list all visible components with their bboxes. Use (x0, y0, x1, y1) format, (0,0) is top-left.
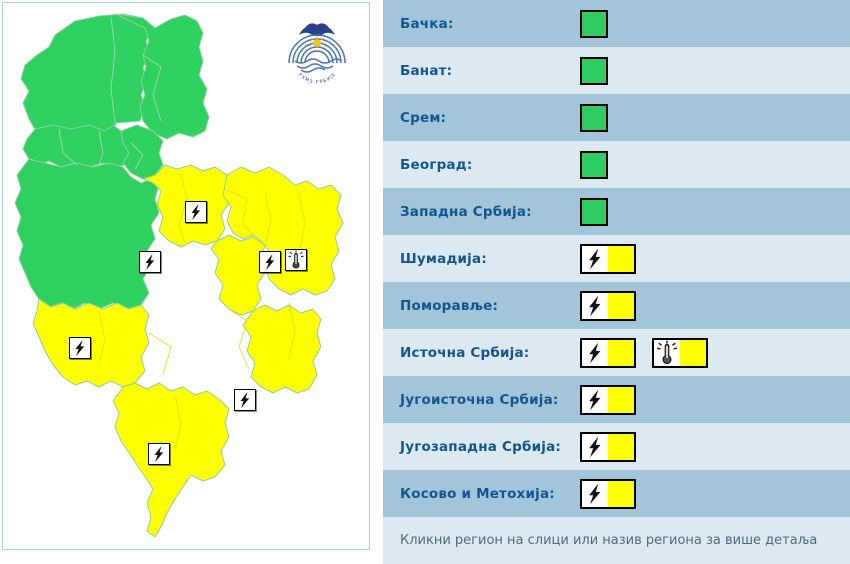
level-yellow-swatch (608, 340, 634, 366)
warning-thunderstorm-yellow[interactable] (580, 432, 636, 462)
warning-icons (580, 432, 636, 462)
warning-icons (580, 57, 608, 85)
sidebar-item-label[interactable]: Косово и Метохија: (400, 486, 580, 502)
sidebar-item-label[interactable]: Срем: (400, 110, 580, 126)
level-green-swatch (580, 57, 608, 85)
warning-icons (580, 104, 608, 132)
sidebar-item-label[interactable]: Шумадија: (400, 251, 580, 267)
warning-thunderstorm-yellow[interactable] (580, 291, 636, 321)
level-yellow-swatch (608, 481, 634, 507)
thunderstorm-icon[interactable] (185, 201, 207, 223)
table-row[interactable]: Срем: (383, 94, 850, 141)
thunderstorm-icon[interactable] (234, 389, 256, 411)
weather-warning-page: РХМЗ СРБИЈЕ (0, 0, 850, 562)
warning-thunderstorm-yellow[interactable] (580, 385, 636, 415)
warning-icons (580, 291, 636, 321)
sidebar-item-label[interactable]: Банат: (400, 63, 580, 79)
map-hint-text: Кликни регион на слици или назив региона… (400, 533, 817, 548)
rhmz-serbia-logo: РХМЗ СРБИЈЕ (281, 11, 353, 83)
svg-text:РХМЗ СРБИЈЕ: РХМЗ СРБИЈЕ (297, 71, 338, 83)
table-row[interactable]: Банат: (383, 47, 850, 94)
sidebar-item-label[interactable]: Бачка: (400, 16, 580, 32)
warning-thunderstorm-yellow[interactable] (580, 244, 636, 274)
thunderstorm-icon[interactable] (69, 337, 91, 359)
thunderstorm-icon (582, 434, 608, 460)
level-yellow-swatch (608, 387, 634, 413)
map-region-srem[interactable] (23, 125, 137, 167)
warning-hightemp-yellow[interactable] (652, 338, 708, 368)
region-warning-table: Бачка: Банат: Срем: Београд: Западна Срб (383, 0, 850, 562)
sidebar-item-label[interactable]: Југозападна Србија: (400, 439, 580, 455)
sidebar-item-label[interactable]: Београд: (400, 157, 580, 173)
thunderstorm-icon (582, 387, 608, 413)
level-yellow-swatch (608, 246, 634, 272)
warning-icons (580, 338, 708, 368)
level-green-swatch (580, 198, 608, 226)
thunderstorm-icon[interactable] (259, 251, 281, 273)
logo-caption: РХМЗ СРБИЈЕ (297, 71, 338, 83)
thunderstorm-icon (582, 246, 608, 272)
level-green-swatch (580, 151, 608, 179)
map-hint-footer: Кликни регион на слици или назив региона… (383, 517, 850, 564)
level-yellow-swatch (608, 434, 634, 460)
high-temperature-icon (654, 340, 680, 366)
thunderstorm-icon (582, 340, 608, 366)
thunderstorm-icon (582, 293, 608, 319)
map-panel: РХМЗ СРБИЈЕ (2, 2, 370, 550)
table-row[interactable]: Југоисточна Србија: (383, 376, 850, 423)
table-row[interactable]: Источна Србија: (383, 329, 850, 376)
high-temperature-icon[interactable] (285, 249, 307, 271)
map-region-kosovo-metohija[interactable] (113, 383, 229, 537)
table-row[interactable]: Поморавље: (383, 282, 850, 329)
table-row[interactable]: Косово и Метохија: (383, 470, 850, 517)
table-row[interactable]: Западна Србија: (383, 188, 850, 235)
warning-thunderstorm-yellow[interactable] (580, 338, 636, 368)
table-row[interactable]: Југозападна Србија: (383, 423, 850, 470)
level-green-swatch (580, 104, 608, 132)
sidebar-item-label[interactable]: Источна Србија: (400, 345, 580, 361)
table-row[interactable]: Шумадија: (383, 235, 850, 282)
warning-icons (580, 151, 608, 179)
level-green-swatch (580, 10, 608, 38)
warning-icons (580, 385, 636, 415)
table-row[interactable]: Бачка: (383, 0, 850, 47)
warning-thunderstorm-yellow[interactable] (580, 479, 636, 509)
sidebar-item-label[interactable]: Поморавље: (400, 298, 580, 314)
thunderstorm-icon[interactable] (139, 251, 161, 273)
warning-icons (580, 198, 608, 226)
warning-icons (580, 10, 608, 38)
level-yellow-swatch (680, 340, 706, 366)
thunderstorm-icon[interactable] (148, 443, 170, 465)
map-region-pomoravlje[interactable] (211, 235, 265, 315)
table-row[interactable]: Београд: (383, 141, 850, 188)
map-region-jugozapadna-srbija[interactable] (33, 299, 149, 387)
sidebar-item-label[interactable]: Западна Србија: (400, 204, 580, 220)
warning-icons (580, 479, 636, 509)
serbia-warning-map[interactable] (3, 3, 371, 551)
thunderstorm-icon (582, 481, 608, 507)
sun-icon (313, 39, 321, 47)
level-yellow-swatch (608, 293, 634, 319)
map-region-jugoistocna-srbija[interactable] (243, 305, 321, 393)
sidebar-item-label[interactable]: Југоисточна Србија: (400, 392, 580, 408)
map-region-zapadna-srbija[interactable] (15, 159, 159, 309)
warning-icons (580, 244, 636, 274)
